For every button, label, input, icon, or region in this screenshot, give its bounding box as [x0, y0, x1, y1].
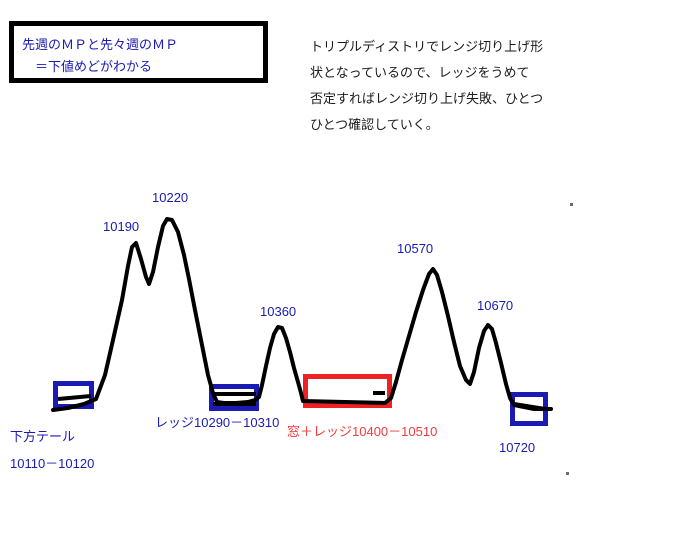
price-line-path	[53, 219, 551, 410]
peak-label-10670: 10670	[477, 298, 513, 313]
peak-label-10570: 10570	[397, 241, 433, 256]
zone-label-0-0: 下方テール	[10, 426, 75, 445]
zone-label-3-0: 10720	[499, 440, 535, 455]
zone-label-1-0: レッジ10290－10310	[155, 412, 279, 431]
zone-label-0-1: 10110－10120	[10, 453, 94, 472]
peak-label-10220: 10220	[152, 190, 188, 205]
zone-label-2-0: 窓＋レッジ10400－10510	[287, 421, 437, 440]
tick-blue-box-1	[58, 396, 91, 399]
speck-0	[570, 203, 573, 206]
peak-label-10190: 10190	[103, 219, 139, 234]
speck-1	[566, 472, 569, 475]
price-chart-canvas	[0, 0, 691, 560]
peak-label-10360: 10360	[260, 304, 296, 319]
